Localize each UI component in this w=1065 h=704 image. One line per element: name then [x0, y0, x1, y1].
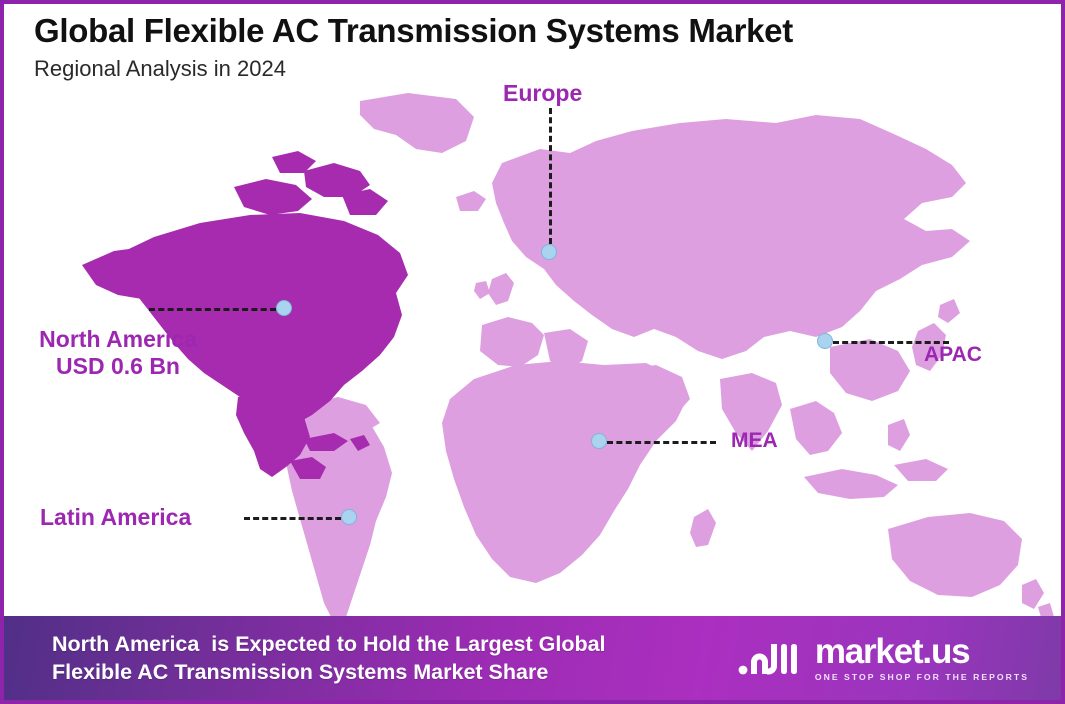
- region-label-north-america: North America USD 0.6 Bn: [18, 326, 218, 380]
- page-title: Global Flexible AC Transmission Systems …: [34, 12, 1034, 50]
- market-us-logo-mark: [738, 636, 804, 680]
- connector-europe: [549, 108, 552, 244]
- market-us-logo[interactable]: market.us ONE STOP SHOP FOR THE REPORTS: [738, 634, 1035, 682]
- marker-north-america[interactable]: [276, 300, 292, 316]
- region-label-mea: MEA: [731, 429, 778, 454]
- region-label-north-america-value: USD 0.6 Bn: [18, 353, 218, 380]
- region-label-north-america-name: North America: [39, 326, 197, 352]
- region-label-europe: Europe: [503, 80, 582, 107]
- region-label-latin-america: Latin America: [40, 504, 191, 531]
- header: Global Flexible AC Transmission Systems …: [34, 12, 1034, 82]
- footer-headline: North America is Expected to Hold the La…: [52, 630, 606, 687]
- footer-banner: North America is Expected to Hold the La…: [4, 616, 1061, 700]
- logo-wordmark: market.us: [815, 634, 970, 669]
- marker-mea[interactable]: [591, 433, 607, 449]
- connector-mea: [607, 441, 716, 444]
- connector-latin-america: [244, 517, 341, 520]
- marker-europe[interactable]: [541, 244, 557, 260]
- logo-tagline: ONE STOP SHOP FOR THE REPORTS: [815, 672, 1029, 682]
- market-us-logo-text: market.us ONE STOP SHOP FOR THE REPORTS: [815, 634, 1029, 682]
- connector-north-america: [149, 308, 276, 311]
- marker-latin-america[interactable]: [341, 509, 357, 525]
- infographic-canvas: Global Flexible AC Transmission Systems …: [0, 0, 1065, 704]
- marker-apac[interactable]: [817, 333, 833, 349]
- region-label-apac: APAC: [924, 343, 982, 368]
